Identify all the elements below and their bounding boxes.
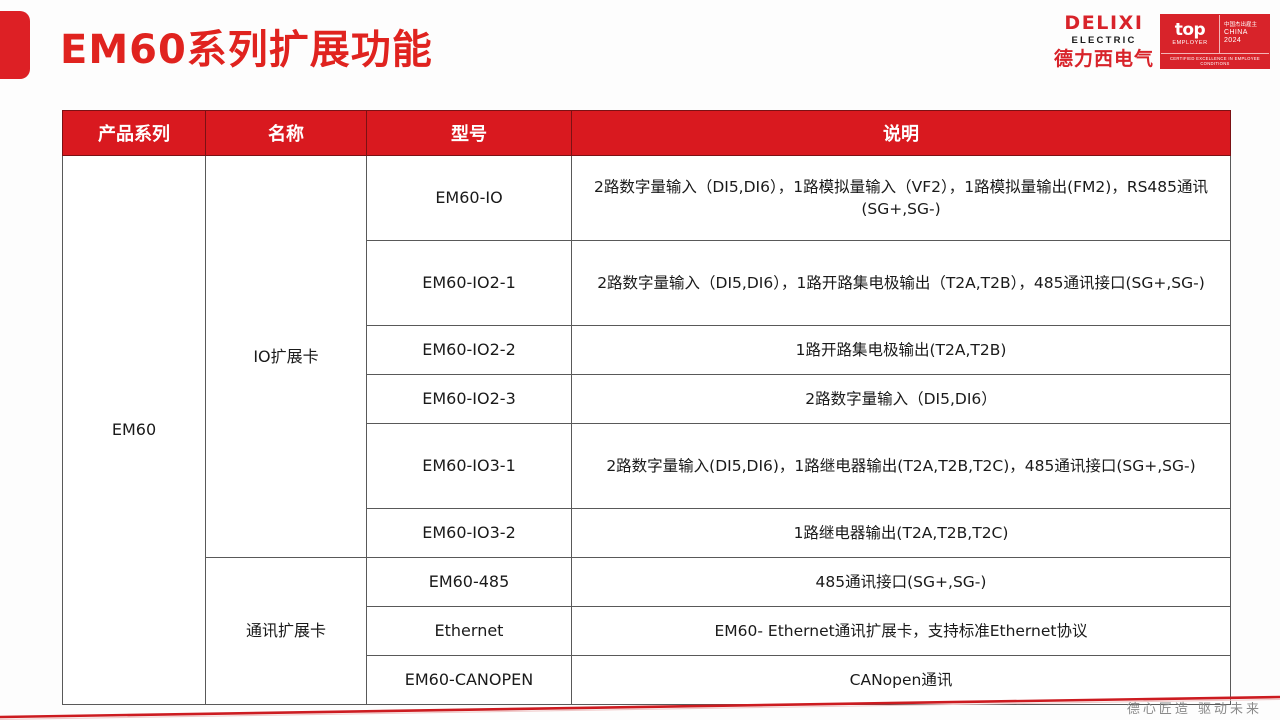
page-title: EM60系列扩展功能 [60,17,433,75]
brand-name-cn: 德力西电气 [1054,50,1154,69]
brand-tagline-en: ELECTRIC [1071,36,1136,46]
cell-description: 485通讯接口(SG+,SG-) [572,558,1231,607]
cell-model: EM60-IO3-2 [367,509,572,558]
cell-description: 2路数字量输入（DI5,DI6），1路开路集电极输出（T2A,T2B），485通… [572,241,1231,326]
delixi-logo: DELIXI ELECTRIC 德力西电气 [1054,14,1154,69]
brand-logo-group: DELIXI ELECTRIC 德力西电气 top EMPLOYER 中国杰出雇… [1054,14,1270,69]
badge-line-cn: 中国杰出雇主 [1224,22,1269,29]
badge-line-year: 2024 [1224,37,1269,46]
cell-model: EM60-IO [367,156,572,241]
cell-group-name-io: IO扩展卡 [206,156,367,558]
cell-model: EM60-IO2-1 [367,241,572,326]
cell-product-series: EM60 [63,156,206,705]
cell-description: 1路继电器输出(T2A,T2B,T2C) [572,509,1231,558]
column-header-model: 型号 [367,111,572,156]
brand-name-en: DELIXI [1064,14,1143,33]
top-employer-badge: top EMPLOYER 中国杰出雇主 CHINA 2024 CERTIFIED… [1160,14,1270,69]
cell-description: 2路数字量输入（DI5,DI6），1路模拟量输入（VF2），1路模拟量输出(FM… [572,156,1231,241]
footer-slogan: 德心匠造 驱动未来 [1127,698,1262,717]
column-header-series: 产品系列 [63,111,206,156]
cell-description: 1路开路集电极输出(T2A,T2B) [572,326,1231,375]
badge-top-employer-mark: top EMPLOYER [1161,15,1220,53]
cell-model: EM60-CANOPEN [367,656,572,705]
badge-certification-text: CERTIFIED EXCELLENCE IN EMPLOYEE CONDITI… [1161,53,1269,68]
badge-detail: 中国杰出雇主 CHINA 2024 [1220,15,1269,53]
badge-main: top EMPLOYER 中国杰出雇主 CHINA 2024 [1161,15,1269,53]
column-header-desc: 说明 [572,111,1231,156]
cell-model: EM60-IO3-1 [367,424,572,509]
expansion-function-table: 产品系列 名称 型号 说明 EM60 IO扩展卡 EM60-IO 2路数字量输入… [62,110,1231,705]
table-header-row: 产品系列 名称 型号 说明 [63,111,1231,156]
cell-group-name-comm: 通讯扩展卡 [206,558,367,705]
cell-description: EM60- Ethernet通讯扩展卡，支持标准Ethernet协议 [572,607,1231,656]
column-header-name: 名称 [206,111,367,156]
cell-description: 2路数字量输入(DI5,DI6)，1路继电器输出(T2A,T2B,T2C)，48… [572,424,1231,509]
table-row: 通讯扩展卡 EM60-485 485通讯接口(SG+,SG-) [63,558,1231,607]
title-accent-bar [0,11,30,79]
badge-line-country: CHINA [1224,29,1269,38]
cell-description: 2路数字量输入（DI5,DI6） [572,375,1231,424]
badge-word: top [1175,22,1205,38]
cell-model: EM60-485 [367,558,572,607]
cell-model: EM60-IO2-2 [367,326,572,375]
expansion-function-table-wrapper: 产品系列 名称 型号 说明 EM60 IO扩展卡 EM60-IO 2路数字量输入… [62,110,1230,705]
cell-model: EM60-IO2-3 [367,375,572,424]
badge-subword: EMPLOYER [1172,40,1207,46]
table-row: EM60 IO扩展卡 EM60-IO 2路数字量输入（DI5,DI6），1路模拟… [63,156,1231,241]
cell-model: Ethernet [367,607,572,656]
